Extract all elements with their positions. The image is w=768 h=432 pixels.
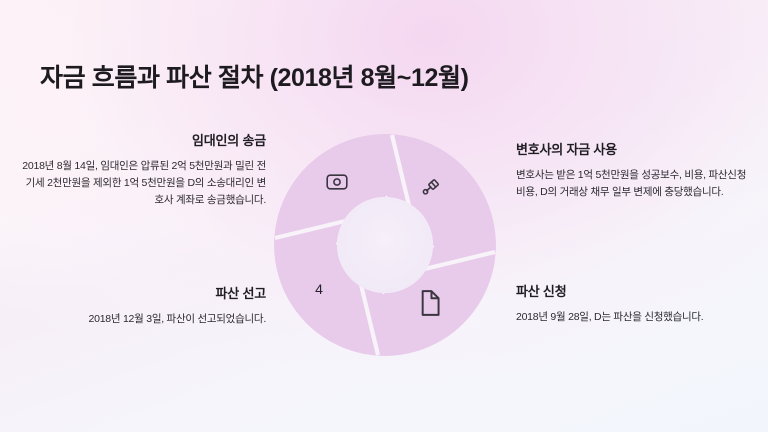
info-block-heading: 파산 선고 [18, 286, 266, 302]
donut-chart: 4 [274, 134, 496, 356]
slide-canvas: 자금 흐름과 파산 절차 (2018년 8월~12월) 임대인의 송금 2018… [0, 0, 768, 432]
document-icon [419, 292, 441, 314]
page-title: 자금 흐름과 파산 절차 (2018년 8월~12월) [40, 58, 469, 94]
donut-segment-label: 4 [306, 281, 332, 297]
donut-chart-svg [274, 134, 496, 356]
info-block-bankruptcy-declaration: 파산 선고 2018년 12월 3일, 파산이 선고되었습니다. [18, 286, 266, 328]
info-block-body: 변호사는 받은 1억 5천만원을 성공보수, 비용, 파산신청비용, D의 거래… [516, 167, 754, 201]
banknote-icon [326, 171, 348, 193]
info-block-lawyer-fund-use: 변호사의 자금 사용 변호사는 받은 1억 5천만원을 성공보수, 비용, 파산… [516, 142, 754, 201]
info-block-heading: 변호사의 자금 사용 [516, 142, 754, 158]
info-block-body: 2018년 9월 28일, D는 파산을 신청했습니다. [516, 309, 754, 326]
info-block-body: 2018년 8월 14일, 임대인은 압류된 2억 5천만원과 밀린 전기세 2… [18, 158, 266, 209]
info-block-bankruptcy-application: 파산 신청 2018년 9월 28일, D는 파산을 신청했습니다. [516, 284, 754, 326]
info-block-body: 2018년 12월 3일, 파산이 선고되었습니다. [18, 311, 266, 328]
info-block-heading: 임대인의 송금 [18, 133, 266, 149]
info-block-landlord-transfer: 임대인의 송금 2018년 8월 14일, 임대인은 압류된 2억 5천만원과 … [18, 133, 266, 209]
info-block-heading: 파산 신청 [516, 284, 754, 300]
